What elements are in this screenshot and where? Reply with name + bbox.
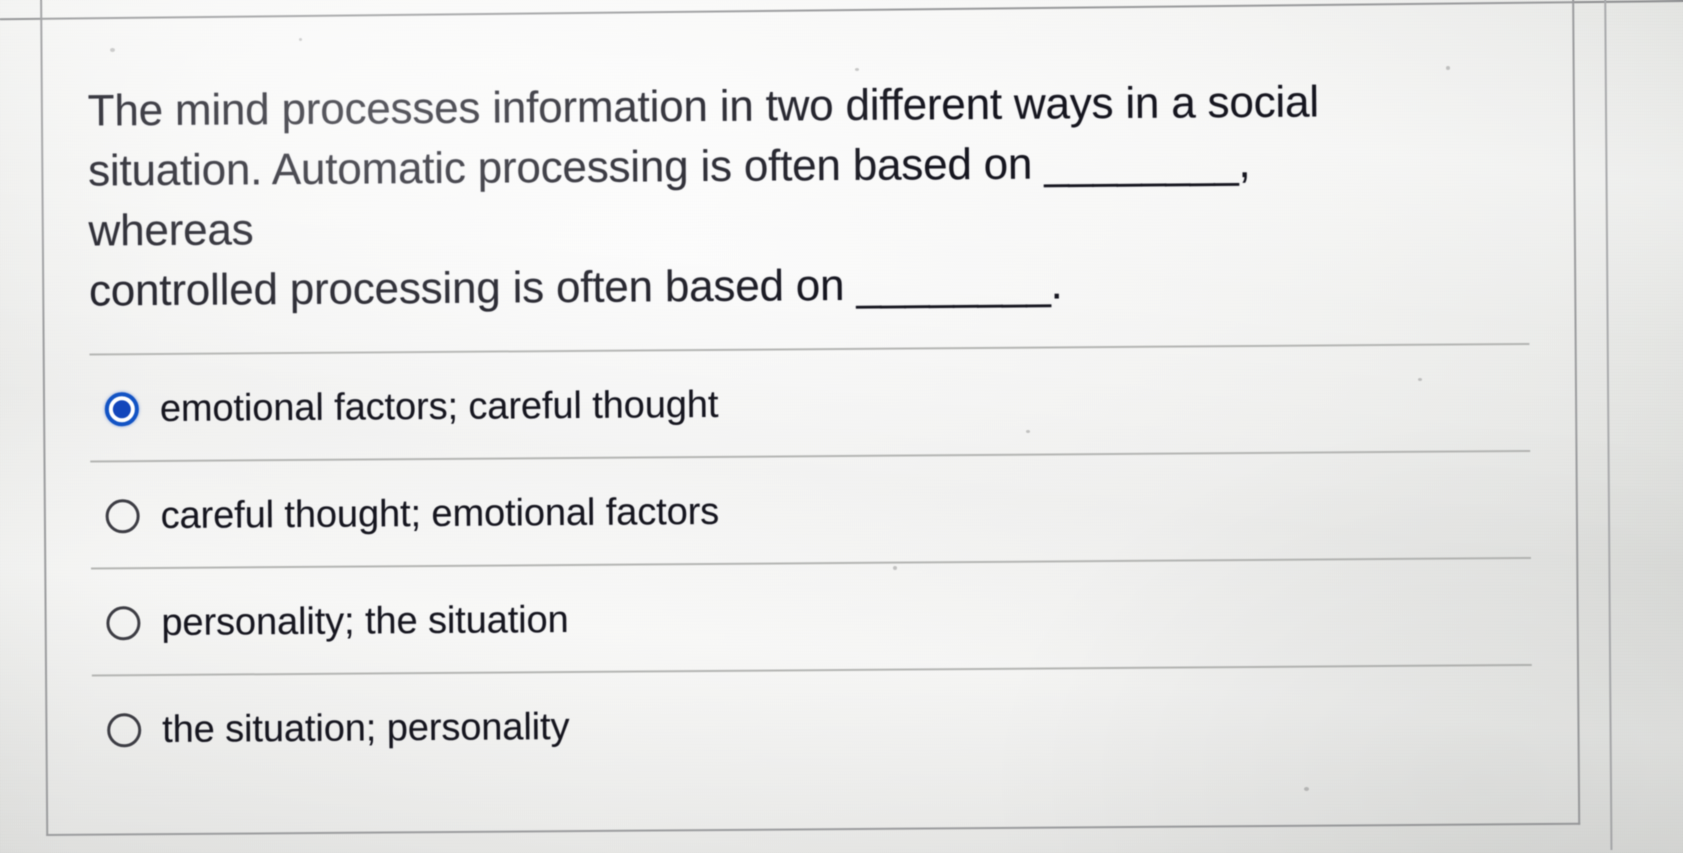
radio-unselected-icon[interactable] — [106, 499, 140, 533]
answer-option-label-1: emotional factors; careful thought — [160, 382, 719, 430]
question-stem-line-3: controlled processing is often based on … — [89, 259, 1063, 315]
answer-option-label-2: careful thought; emotional factors — [160, 489, 719, 537]
answer-option-row-2[interactable]: careful thought; emotional factors — [90, 450, 1531, 570]
radio-selected-icon[interactable] — [105, 392, 139, 426]
question-card-content: The mind processes information in two di… — [0, 0, 1683, 853]
answer-option-row-1[interactable]: emotional factors; careful thought — [89, 343, 1530, 463]
answer-option-row-4[interactable]: the situation; personality — [92, 664, 1533, 784]
photographed-screen-surface: The mind processes information in two di… — [0, 0, 1683, 853]
question-stem: The mind processes information in two di… — [87, 72, 1409, 322]
radio-unselected-icon[interactable] — [107, 713, 141, 747]
question-stem-line-1: The mind processes information in two di… — [87, 77, 1319, 135]
question-stem-line-2: situation. Automatic processing is often… — [88, 138, 1251, 256]
answer-option-label-3: personality; the situation — [161, 598, 569, 645]
answer-option-label-4: the situation; personality — [162, 705, 570, 752]
radio-unselected-icon[interactable] — [106, 606, 140, 640]
radio-inner-dot — [113, 400, 131, 418]
answer-option-row-3[interactable]: personality; the situation — [91, 557, 1532, 677]
